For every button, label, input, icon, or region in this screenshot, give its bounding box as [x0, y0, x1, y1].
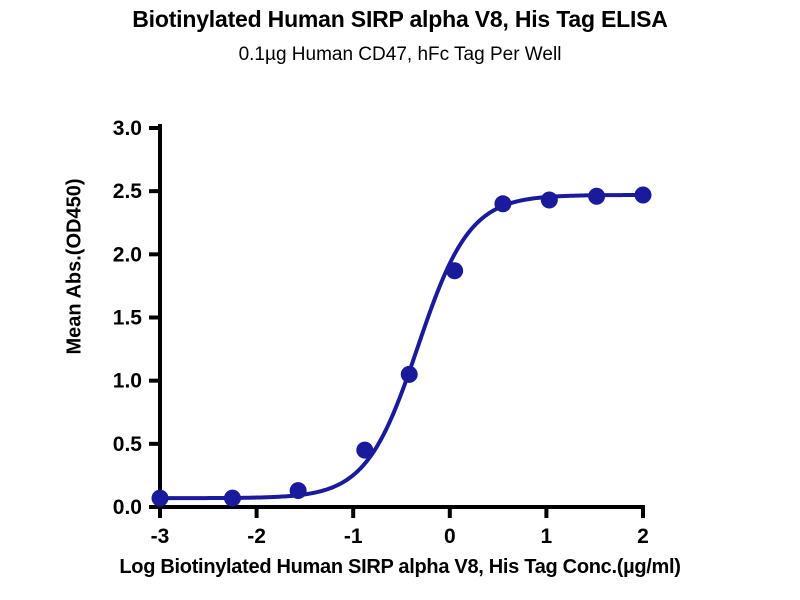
y-tick-label: 0.0: [113, 496, 142, 519]
y-tick-label: 1.0: [113, 370, 142, 393]
x-tick-label: 2: [637, 525, 649, 548]
y-tick-label-group: 0.00.51.01.52.02.53.0: [113, 117, 143, 519]
y-tick-label: 2.0: [113, 243, 142, 266]
data-point: [494, 195, 511, 212]
data-point: [541, 192, 558, 209]
data-point: [290, 482, 307, 499]
data-point: [224, 490, 241, 507]
data-point: [401, 366, 418, 383]
x-tick-label: -2: [247, 525, 266, 548]
data-point-group: [152, 186, 652, 506]
x-tick-label: -1: [344, 525, 363, 548]
y-tick-label: 1.5: [113, 307, 143, 330]
data-point: [635, 186, 652, 203]
x-tick-label-group: -3-2-1012: [151, 525, 649, 548]
sigmoid-fit-curve: [160, 195, 643, 498]
x-tick-label: 0: [444, 525, 456, 548]
data-point: [356, 442, 373, 459]
y-tick-label: 3.0: [113, 117, 142, 140]
data-point: [446, 262, 463, 279]
x-tick-label: 1: [541, 525, 553, 548]
data-point: [152, 490, 169, 507]
y-tick-label: 2.5: [113, 180, 143, 203]
y-tick-label: 0.5: [113, 433, 143, 456]
data-point: [588, 188, 605, 205]
plot-area: 0.00.51.01.52.02.53.0 -3-2-1012: [0, 0, 800, 600]
x-tick-label: -3: [151, 525, 170, 548]
elisa-chart-figure: Biotinylated Human SIRP alpha V8, His Ta…: [0, 0, 800, 600]
